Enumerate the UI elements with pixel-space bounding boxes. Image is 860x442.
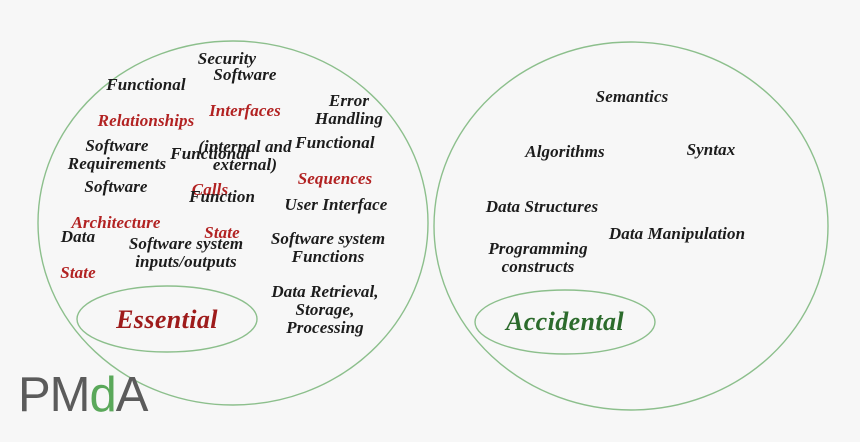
term-accent-text: State bbox=[60, 264, 95, 282]
term-plain-text: Functional bbox=[98, 76, 195, 94]
venn-diagram-canvas: Security Functional Relationships Softwa… bbox=[0, 0, 860, 442]
term-plain-text: Software bbox=[198, 66, 291, 84]
term-plain-text: Software bbox=[71, 178, 160, 196]
term-accent-text: Interfaces bbox=[198, 102, 291, 120]
term-plain-text: Semantics bbox=[596, 88, 669, 106]
term-semantics: Semantics bbox=[596, 70, 669, 124]
term-data-retrieval-storage-processing: Data Retrieval, Storage, Processing bbox=[271, 265, 378, 355]
term-programming-constructs: Programming constructs bbox=[488, 222, 587, 294]
term-algorithms: Algorithms bbox=[525, 125, 604, 179]
term-plain-text: Programming constructs bbox=[488, 240, 587, 276]
pmda-logo: PMdA bbox=[18, 371, 147, 420]
term-plain-text: Function bbox=[189, 188, 255, 206]
logo-part-a: A bbox=[116, 368, 148, 422]
term-plain-text: Data Retrieval, Storage, Processing bbox=[271, 283, 378, 337]
term-syntax: Syntax bbox=[687, 123, 736, 177]
term-plain-text: Data bbox=[60, 228, 95, 246]
term-plain-text: Algorithms bbox=[525, 143, 604, 161]
term-plain-text: Syntax bbox=[687, 141, 736, 159]
term-plain-text: Data Manipulation bbox=[609, 225, 745, 243]
logo-part-d: d bbox=[90, 368, 116, 422]
term-data-manipulation: Data Manipulation bbox=[609, 207, 745, 261]
term-plain-text: Software system Functions bbox=[271, 230, 385, 266]
term-plain-text: Functional bbox=[295, 134, 374, 152]
essential-label: Essential bbox=[116, 305, 218, 335]
term-plain-text: Software system inputs/outputs bbox=[129, 235, 243, 271]
term-data-state: Data State bbox=[60, 210, 95, 300]
accidental-label: Accidental bbox=[506, 307, 624, 337]
term-plain-text: Data Structures bbox=[486, 198, 599, 216]
term-software-system-inputs-outputs: Software system inputs/outputs bbox=[129, 217, 243, 289]
logo-part-pm: PM bbox=[18, 368, 90, 422]
term-plain-text: Functional bbox=[170, 145, 249, 163]
